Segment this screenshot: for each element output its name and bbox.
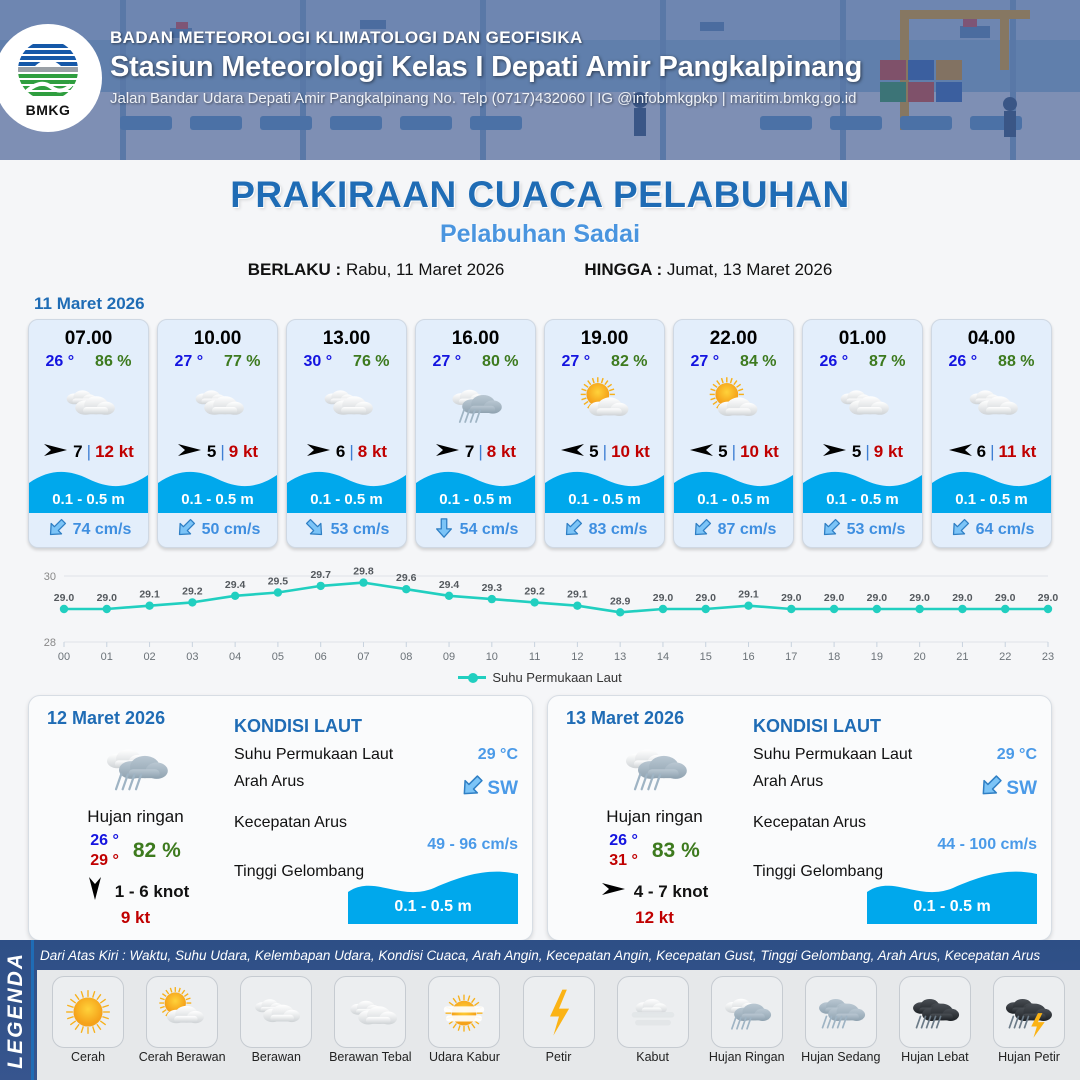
svg-text:30: 30 (44, 571, 56, 583)
weather-cerah-berawan-icon (674, 373, 793, 435)
svg-text:02: 02 (143, 651, 155, 663)
wind-direction-arrow-icon (43, 440, 69, 465)
svg-text:29.0: 29.0 (867, 592, 888, 604)
day-date: 13 Maret 2026 (566, 708, 747, 729)
card-wave-band: 0.1 - 0.5 m (416, 467, 535, 513)
svg-text:15: 15 (700, 651, 712, 663)
svg-text:29.1: 29.1 (738, 589, 759, 601)
legend-item: Hujan Ringan (700, 976, 794, 1064)
svg-text:29.0: 29.0 (97, 592, 118, 604)
card-gust: 9 kt (874, 442, 903, 462)
weather-hujan-ringan-icon (711, 976, 783, 1048)
svg-text:12: 12 (571, 651, 583, 663)
weather-berawan-icon (803, 373, 922, 435)
svg-text:29.0: 29.0 (909, 592, 930, 604)
current-speed-value: 44 - 100 cm/s (753, 836, 1037, 854)
card-wind-separator: | (478, 442, 482, 462)
svg-text:29.8: 29.8 (353, 566, 374, 578)
legend-caption: Dari Atas Kiri : Waktu, Suhu Udara, Kele… (40, 948, 1040, 963)
svg-text:11: 11 (529, 651, 540, 663)
legend-item: Petir (511, 976, 605, 1064)
legend-item: Hujan Lebat (888, 976, 982, 1064)
svg-text:29.5: 29.5 (268, 576, 289, 588)
svg-text:29.3: 29.3 (482, 582, 503, 594)
card-wind-separator: | (865, 442, 869, 462)
card-current-speed: 54 cm/s (460, 521, 519, 539)
card-temp-humidity: 26 ° 88 % (932, 350, 1051, 371)
card-current-row: 50 cm/s (158, 513, 277, 547)
svg-text:00: 00 (58, 651, 70, 663)
weather-hujan-ringan-icon (562, 731, 747, 803)
day-condition: Hujan ringan (43, 807, 228, 827)
current-direction-arrow-icon (978, 773, 1004, 805)
card-wind-row: 5 | 10 kt (674, 435, 793, 469)
sea-current-direction-row: Arah Arus SW (234, 773, 518, 805)
legend-item-label: Hujan Petir (982, 1050, 1076, 1064)
weather-hujan-sedang-icon (805, 976, 877, 1048)
legend-item: Hujan Sedang (794, 976, 888, 1064)
current-direction-value: SW (978, 773, 1037, 805)
valid-from-label: BERLAKU : (248, 260, 342, 279)
port-name: Pelabuhan Sadai (0, 220, 1080, 249)
day-temp-min: 26 ° (609, 831, 638, 851)
svg-text:04: 04 (229, 651, 241, 663)
title-section: PRAKIRAAN CUACA PELABUHAN Pelabuhan Sada… (0, 160, 1080, 280)
legend-item: Udara Kabur (417, 976, 511, 1064)
day-wind-range: 4 - 7 knot (634, 882, 709, 902)
day-panel-left: 12 Maret 2026 Hujan ringan 26 ° 29 ° 82 … (43, 708, 228, 928)
wind-direction-arrow-icon (688, 440, 714, 465)
card-temp-humidity: 27 ° 77 % (158, 350, 277, 371)
legend-items-strip: Cerah Cerah Berawan Berawan Berawan Teba… (37, 970, 1080, 1080)
card-wave-height: 0.1 - 0.5 m (674, 491, 793, 508)
card-humidity: 87 % (869, 353, 905, 371)
card-time: 22.00 (674, 320, 793, 350)
card-temperature: 26 ° (948, 353, 977, 371)
card-wind-row: 5 | 9 kt (803, 435, 922, 469)
card-time: 16.00 (416, 320, 535, 350)
forecast-date-label: 11 Maret 2026 (34, 294, 1080, 314)
day-temp-range: 26 ° 29 ° (90, 831, 119, 871)
station-name: Stasiun Meteorologi Kelas I Depati Amir … (110, 51, 862, 84)
sea-sst-row: Suhu Permukaan Laut 29 °C (234, 746, 518, 764)
card-humidity: 76 % (353, 353, 389, 371)
svg-text:29.0: 29.0 (824, 592, 845, 604)
svg-text:29.0: 29.0 (1038, 592, 1059, 604)
card-temperature: 30 ° (303, 353, 332, 371)
sea-condition-title: KONDISI LAUT (753, 716, 1037, 737)
legend-item: Berawan (229, 976, 323, 1064)
bmkg-logo-mark (17, 39, 79, 101)
card-wave-band: 0.1 - 0.5 m (29, 467, 148, 513)
current-direction-arrow-icon (304, 517, 326, 544)
svg-text:22: 22 (999, 651, 1011, 663)
forecast-card[interactable]: 04.00 26 ° 88 % 6 | 11 kt 0.1 - 0.5 m 64… (931, 319, 1052, 548)
current-speed-label: Kecepatan Arus (753, 814, 1037, 832)
card-current-speed: 74 cm/s (73, 521, 132, 539)
weather-hujan-ringan-icon (43, 731, 228, 803)
legend-item-label: Cerah (41, 1050, 135, 1064)
card-wind-row: 6 | 8 kt (287, 435, 406, 469)
day-date: 12 Maret 2026 (47, 708, 228, 729)
card-humidity: 80 % (482, 353, 518, 371)
day-temp-range: 26 ° 31 ° (609, 831, 638, 871)
day-condition: Hujan ringan (562, 807, 747, 827)
card-time: 10.00 (158, 320, 277, 350)
card-wind-separator: | (732, 442, 736, 462)
weather-berawan-tebal-icon (334, 976, 406, 1048)
card-wind-separator: | (349, 442, 353, 462)
legend-item-label: Berawan (229, 1050, 323, 1064)
card-temperature: 26 ° (45, 353, 74, 371)
weather-udara-kabur-icon (428, 976, 500, 1048)
legend-section: LEGENDA Dari Atas Kiri : Waktu, Suhu Uda… (0, 940, 1080, 1080)
current-direction-text: SW (1006, 778, 1037, 800)
svg-text:17: 17 (785, 651, 797, 663)
svg-text:29.2: 29.2 (524, 585, 545, 597)
card-time: 13.00 (287, 320, 406, 350)
daily-forecast-panels: 12 Maret 2026 Hujan ringan 26 ° 29 ° 82 … (0, 685, 1080, 941)
card-time: 19.00 (545, 320, 664, 350)
card-wave-height: 0.1 - 0.5 m (803, 491, 922, 508)
card-wind-speed: 5 (852, 442, 861, 462)
card-wind-separator: | (220, 442, 224, 462)
card-current-speed: 53 cm/s (847, 521, 906, 539)
legend-item-label: Cerah Berawan (135, 1050, 229, 1064)
svg-text:29.0: 29.0 (952, 592, 973, 604)
day-panel-left: 13 Maret 2026 Hujan ringan 26 ° 31 ° 83 … (562, 708, 747, 928)
card-wind-speed: 6 (336, 442, 345, 462)
wind-direction-arrow-icon (82, 879, 108, 904)
day-humidity: 82 % (133, 839, 181, 863)
weather-petir-icon (523, 976, 595, 1048)
current-direction-value: SW (459, 773, 518, 805)
page-title: PRAKIRAAN CUACA PELABUHAN (0, 174, 1080, 216)
day-temp-max: 29 ° (90, 851, 119, 871)
day-panel-right: KONDISI LAUT Suhu Permukaan Laut 29 °C A… (228, 708, 518, 928)
card-wind-row: 5 | 10 kt (545, 435, 664, 469)
wind-direction-arrow-icon (306, 440, 332, 465)
day-gust: 9 kt (43, 908, 228, 928)
wind-direction-arrow-icon (601, 879, 627, 904)
card-wind-speed: 7 (73, 442, 82, 462)
legend-item-label: Hujan Lebat (888, 1050, 982, 1064)
svg-text:29.1: 29.1 (139, 589, 160, 601)
card-gust: 11 kt (999, 442, 1037, 462)
card-wave-height: 0.1 - 0.5 m (416, 491, 535, 508)
day-temp-min: 26 ° (90, 831, 119, 851)
current-direction-label: Arah Arus (234, 773, 459, 791)
current-direction-arrow-icon (562, 517, 584, 544)
current-direction-arrow-icon (820, 517, 842, 544)
card-wave-height: 0.1 - 0.5 m (158, 491, 277, 508)
card-temp-humidity: 27 ° 82 % (545, 350, 664, 371)
day-wind-row: 4 - 7 knot (562, 879, 747, 904)
svg-text:06: 06 (315, 651, 327, 663)
day-wind-row: 1 - 6 knot (43, 879, 228, 904)
valid-until-value: Jumat, 13 Maret 2026 (667, 260, 832, 279)
weather-hujan-ringan-icon (416, 373, 535, 435)
svg-text:29.0: 29.0 (995, 592, 1016, 604)
weather-hujan-petir-icon (993, 976, 1065, 1048)
forecast-card[interactable]: 13.00 30 ° 76 % 6 | 8 kt 0.1 - 0.5 m 53 … (286, 319, 407, 548)
weather-berawan-icon (29, 373, 148, 435)
validity-row: BERLAKU : Rabu, 11 Maret 2026 HINGGA : J… (0, 260, 1080, 280)
weather-berawan-icon (240, 976, 312, 1048)
svg-text:29.7: 29.7 (310, 569, 331, 581)
current-direction-arrow-icon (459, 773, 485, 805)
sea-current-direction-row: Arah Arus SW (753, 773, 1037, 805)
card-current-row: 74 cm/s (29, 513, 148, 547)
weather-berawan-icon (287, 373, 406, 435)
sea-current-speed-row: Kecepatan Arus (234, 814, 518, 832)
card-temp-humidity: 26 ° 86 % (29, 350, 148, 371)
card-current-speed: 83 cm/s (589, 521, 648, 539)
day-forecast-panel[interactable]: 13 Maret 2026 Hujan ringan 26 ° 31 ° 83 … (547, 695, 1052, 941)
current-direction-arrow-icon (46, 517, 68, 544)
wind-direction-arrow-icon (177, 440, 203, 465)
card-current-speed: 53 cm/s (331, 521, 390, 539)
hourly-forecast-cards: 07.00 26 ° 86 % 7 | 12 kt 0.1 - 0.5 m 74… (0, 319, 1080, 548)
card-wind-row: 7 | 12 kt (29, 435, 148, 469)
card-wave-height: 0.1 - 0.5 m (287, 491, 406, 508)
sst-value: 29 °C (997, 746, 1037, 764)
forecast-card[interactable]: 10.00 27 ° 77 % 5 | 9 kt 0.1 - 0.5 m 50 … (157, 319, 278, 548)
sst-value: 29 °C (478, 746, 518, 764)
bmkg-logo-text: BMKG (26, 102, 71, 118)
weather-kabut-icon (617, 976, 689, 1048)
svg-text:29.0: 29.0 (696, 592, 717, 604)
legend-item: Cerah Berawan (135, 976, 229, 1064)
svg-text:05: 05 (272, 651, 284, 663)
day-wave-graphic: 0.1 - 0.5 m (867, 868, 1037, 924)
card-wave-height: 0.1 - 0.5 m (29, 491, 148, 508)
legend-side-title: LEGENDA (0, 940, 34, 1080)
wind-direction-arrow-icon (559, 440, 585, 465)
card-current-row: 54 cm/s (416, 513, 535, 547)
forecast-card[interactable]: 16.00 27 ° 80 % 7 | 8 kt 0.1 - 0.5 m 54 … (415, 319, 536, 548)
svg-text:28: 28 (44, 637, 56, 649)
svg-text:20: 20 (914, 651, 926, 663)
svg-text:13: 13 (614, 651, 626, 663)
weather-berawan-icon (932, 373, 1051, 435)
station-address: Jalan Bandar Udara Depati Amir Pangkalpi… (110, 90, 862, 107)
forecast-card[interactable]: 22.00 27 ° 84 % 5 | 10 kt 0.1 - 0.5 m 87… (673, 319, 794, 548)
wind-direction-arrow-icon (822, 440, 848, 465)
day-gust: 12 kt (562, 908, 747, 928)
card-wave-band: 0.1 - 0.5 m (287, 467, 406, 513)
legend-item: Berawan Tebal (323, 976, 417, 1064)
forecast-card[interactable]: 01.00 26 ° 87 % 5 | 9 kt 0.1 - 0.5 m 53 … (802, 319, 923, 548)
legend-item-label: Hujan Sedang (794, 1050, 888, 1064)
card-temperature: 26 ° (819, 353, 848, 371)
card-gust: 8 kt (358, 442, 387, 462)
sea-sst-row: Suhu Permukaan Laut 29 °C (753, 746, 1037, 764)
day-forecast-panel[interactable]: 12 Maret 2026 Hujan ringan 26 ° 29 ° 82 … (28, 695, 533, 941)
sea-current-speed-row: Kecepatan Arus (753, 814, 1037, 832)
card-time: 04.00 (932, 320, 1051, 350)
card-humidity: 82 % (611, 353, 647, 371)
card-current-row: 87 cm/s (674, 513, 793, 547)
current-direction-arrow-icon (433, 517, 455, 544)
legend-item-label: Berawan Tebal (323, 1050, 417, 1064)
card-wave-band: 0.1 - 0.5 m (803, 467, 922, 513)
card-wave-band: 0.1 - 0.5 m (674, 467, 793, 513)
card-wind-speed: 7 (465, 442, 474, 462)
card-wave-height: 0.1 - 0.5 m (932, 491, 1051, 508)
wind-direction-arrow-icon (947, 440, 973, 465)
card-wave-band: 0.1 - 0.5 m (158, 467, 277, 513)
current-speed-label: Kecepatan Arus (234, 814, 518, 832)
card-humidity: 88 % (998, 353, 1034, 371)
legend-item: Cerah (41, 976, 135, 1064)
svg-text:07: 07 (357, 651, 369, 663)
card-wind-speed: 5 (718, 442, 727, 462)
legend-item-label: Kabut (606, 1050, 700, 1064)
svg-text:03: 03 (186, 651, 198, 663)
day-panel-right: KONDISI LAUT Suhu Permukaan Laut 29 °C A… (747, 708, 1037, 928)
day-wave-value: 0.1 - 0.5 m (348, 898, 518, 916)
card-time: 07.00 (29, 320, 148, 350)
weather-hujan-lebat-icon (899, 976, 971, 1048)
svg-text:29.0: 29.0 (653, 592, 674, 604)
weather-berawan-icon (158, 373, 277, 435)
card-current-row: 64 cm/s (932, 513, 1051, 547)
card-current-speed: 64 cm/s (976, 521, 1035, 539)
card-current-speed: 50 cm/s (202, 521, 261, 539)
card-wind-row: 5 | 9 kt (158, 435, 277, 469)
legend-item-label: Petir (511, 1050, 605, 1064)
day-wave-value: 0.1 - 0.5 m (867, 898, 1037, 916)
card-gust: 10 kt (611, 442, 650, 462)
legend-item: Hujan Petir (982, 976, 1076, 1064)
legend-item-label: Hujan Ringan (700, 1050, 794, 1064)
card-wind-separator: | (990, 442, 994, 462)
card-temperature: 27 ° (174, 353, 203, 371)
svg-text:08: 08 (400, 651, 412, 663)
svg-text:21: 21 (956, 651, 968, 663)
sst-label: Suhu Permukaan Laut (234, 746, 478, 764)
weather-cerah-icon (52, 976, 124, 1048)
svg-text:29.6: 29.6 (396, 572, 417, 584)
card-current-row: 83 cm/s (545, 513, 664, 547)
svg-text:29.0: 29.0 (54, 592, 75, 604)
card-temp-humidity: 26 ° 87 % (803, 350, 922, 371)
weather-cerah-berawan-icon (545, 373, 664, 435)
svg-text:18: 18 (828, 651, 840, 663)
card-temp-humidity: 30 ° 76 % (287, 350, 406, 371)
card-wave-band: 0.1 - 0.5 m (545, 467, 664, 513)
svg-text:23: 23 (1042, 651, 1054, 663)
sst-label: Suhu Permukaan Laut (753, 746, 997, 764)
card-gust: 12 kt (95, 442, 134, 462)
forecast-card[interactable]: 07.00 26 ° 86 % 7 | 12 kt 0.1 - 0.5 m 74… (28, 319, 149, 548)
weather-cerah-berawan-icon (146, 976, 218, 1048)
card-current-speed: 87 cm/s (718, 521, 777, 539)
svg-text:29.1: 29.1 (567, 589, 588, 601)
svg-text:19: 19 (871, 651, 883, 663)
card-temperature: 27 ° (432, 353, 461, 371)
day-humidity: 83 % (652, 839, 700, 863)
chart-legend: Suhu Permukaan Laut (0, 670, 1080, 685)
day-temps: 26 ° 29 ° 82 % (43, 831, 228, 871)
svg-text:29.2: 29.2 (182, 585, 203, 597)
card-gust: 9 kt (229, 442, 258, 462)
card-gust: 10 kt (740, 442, 779, 462)
svg-text:29.4: 29.4 (225, 579, 246, 591)
svg-text:01: 01 (101, 651, 113, 663)
card-temp-humidity: 27 ° 80 % (416, 350, 535, 371)
card-wind-speed: 6 (977, 442, 986, 462)
day-temps: 26 ° 31 ° 83 % (562, 831, 747, 871)
current-direction-label: Arah Arus (753, 773, 978, 791)
card-temp-humidity: 27 ° 84 % (674, 350, 793, 371)
chart-legend-label: Suhu Permukaan Laut (492, 670, 621, 685)
svg-text:09: 09 (443, 651, 455, 663)
card-wind-speed: 5 (207, 442, 216, 462)
current-direction-arrow-icon (175, 517, 197, 544)
wind-direction-arrow-icon (435, 440, 461, 465)
legend-item: Kabut (606, 976, 700, 1064)
page-header: BMKG BADAN METEOROLOGI KLIMATOLOGI DAN G… (0, 0, 1080, 160)
chart-legend-marker-icon (458, 676, 486, 679)
current-direction-text: SW (487, 778, 518, 800)
card-wind-row: 6 | 11 kt (932, 435, 1051, 469)
svg-text:10: 10 (486, 651, 498, 663)
card-time: 01.00 (803, 320, 922, 350)
current-direction-arrow-icon (949, 517, 971, 544)
card-temperature: 27 ° (561, 353, 590, 371)
valid-until-label: HINGGA : (584, 260, 662, 279)
card-humidity: 86 % (95, 353, 131, 371)
card-current-row: 53 cm/s (287, 513, 406, 547)
agency-name: BADAN METEOROLOGI KLIMATOLOGI DAN GEOFIS… (110, 28, 862, 48)
forecast-card[interactable]: 19.00 27 ° 82 % 5 | 10 kt 0.1 - 0.5 m 83… (544, 319, 665, 548)
card-wind-row: 7 | 8 kt (416, 435, 535, 469)
valid-from-value: Rabu, 11 Maret 2026 (346, 260, 504, 279)
svg-text:29.0: 29.0 (781, 592, 802, 604)
svg-text:14: 14 (657, 651, 669, 663)
current-speed-value: 49 - 96 cm/s (234, 836, 518, 854)
card-wave-height: 0.1 - 0.5 m (545, 491, 664, 508)
valid-until: HINGGA : Jumat, 13 Maret 2026 (584, 260, 832, 280)
card-gust: 8 kt (487, 442, 516, 462)
card-humidity: 84 % (740, 353, 776, 371)
card-wind-speed: 5 (589, 442, 598, 462)
current-direction-arrow-icon (691, 517, 713, 544)
sst-chart: 3028000102030405060708091011121314151617… (20, 560, 1060, 668)
legend-item-label: Udara Kabur (417, 1050, 511, 1064)
svg-text:16: 16 (742, 651, 754, 663)
card-current-row: 53 cm/s (803, 513, 922, 547)
card-wave-band: 0.1 - 0.5 m (932, 467, 1051, 513)
valid-from: BERLAKU : Rabu, 11 Maret 2026 (248, 260, 505, 280)
card-wind-separator: | (603, 442, 607, 462)
day-wave-graphic: 0.1 - 0.5 m (348, 868, 518, 924)
day-wind-range: 1 - 6 knot (115, 882, 190, 902)
header-text-block: BADAN METEOROLOGI KLIMATOLOGI DAN GEOFIS… (110, 28, 862, 107)
card-temperature: 27 ° (690, 353, 719, 371)
svg-text:28.9: 28.9 (610, 595, 631, 607)
card-wind-separator: | (87, 442, 91, 462)
card-humidity: 77 % (224, 353, 260, 371)
day-temp-max: 31 ° (609, 851, 638, 871)
sea-condition-title: KONDISI LAUT (234, 716, 518, 737)
svg-text:29.4: 29.4 (439, 579, 460, 591)
